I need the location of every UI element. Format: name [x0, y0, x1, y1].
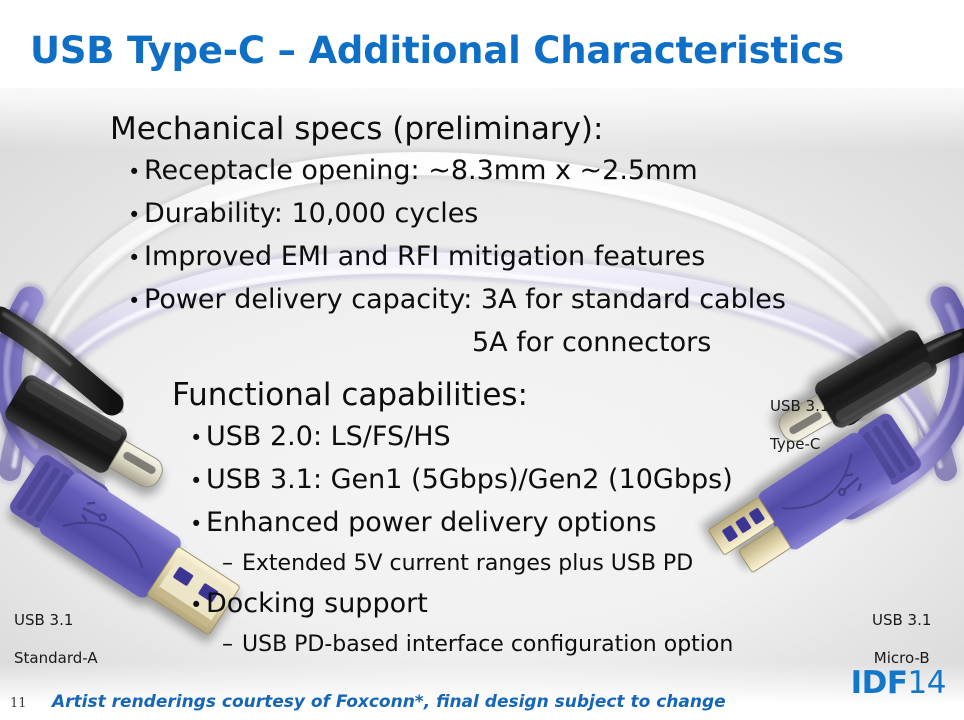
bullet-marker: • [128, 195, 144, 236]
callout-line-1: USB 3.1 [14, 611, 98, 630]
idf-logo-year: 14 [908, 665, 946, 701]
callout-type-c: USB 3.1 Type-C [770, 378, 829, 473]
sub-bullet-item: – USB PD-based interface configuration o… [222, 626, 733, 664]
bullet-marker: • [128, 281, 144, 322]
sub-bullet-text: Extended 5V current ranges plus USB PD [242, 545, 693, 583]
bullet-marker: • [190, 418, 206, 459]
bullet-item: • Durability: 10,000 cycles [128, 193, 786, 236]
bullet-continuation: 5A for connectors [128, 322, 786, 363]
bullet-marker: • [128, 152, 144, 193]
bullet-marker: • [190, 461, 206, 502]
sub-bullet-item: – Extended 5V current ranges plus USB PD [222, 545, 733, 583]
bullet-item: • Improved EMI and RFI mitigation featur… [128, 236, 786, 279]
bullet-text: Receptacle opening: ~8.3mm x ~2.5mm [144, 150, 698, 191]
bullet-text: Power delivery capacity: 3A for standard… [144, 279, 786, 320]
callout-line-2: Standard-A [14, 649, 98, 668]
callout-standard-a: USB 3.1 Standard-A [14, 592, 98, 687]
left-blue-cable [6, 300, 96, 496]
bullet-item: • Power delivery capacity: 3A for standa… [128, 279, 786, 322]
sub-bullet-text: USB PD-based interface configuration opt… [242, 626, 733, 664]
callout-line-2: Type-C [770, 435, 829, 454]
bullet-marker: • [128, 238, 144, 279]
right-blue-cable [850, 300, 964, 506]
slide-canvas: USB Type-C – Additional Characteristics … [0, 0, 964, 720]
connector-type-c-left [2, 372, 173, 501]
section-heading: Functional capabilities: [172, 374, 733, 416]
callout-line-1: USB 3.1 [872, 611, 931, 630]
right-black-cable [848, 334, 964, 414]
slide-number: 11 [10, 696, 27, 711]
footer-credit-text: Artist renderings courtesy of Foxconn*, … [52, 692, 726, 712]
bullet-text: Durability: 10,000 cycles [144, 193, 478, 234]
bullet-marker: • [190, 585, 206, 626]
idf-logo-mark: IDF [851, 665, 908, 701]
bullet-item: • Enhanced power delivery options [190, 502, 733, 545]
bullet-item: • Docking support [190, 583, 733, 626]
bullet-text: USB 2.0: LS/FS/HS [206, 416, 451, 457]
sub-bullet-marker: – [222, 545, 242, 583]
bullet-item: • Receptacle opening: ~8.3mm x ~2.5mm [128, 150, 786, 193]
bullet-marker: • [190, 504, 206, 545]
bullet-item: • USB 3.1: Gen1 (5Gbps)/Gen2 (10Gbps) [190, 459, 733, 502]
bullet-text: USB 3.1: Gen1 (5Gbps)/Gen2 (10Gbps) [206, 459, 733, 500]
idf-logo: IDF14 [851, 666, 946, 700]
sub-bullet-marker: – [222, 626, 242, 664]
bullet-text: Docking support [206, 583, 428, 624]
section-heading: Mechanical specs (preliminary): [110, 108, 786, 150]
section-mechanical-specs: Mechanical specs (preliminary): • Recept… [110, 108, 786, 363]
slide-title: USB Type-C – Additional Characteristics [30, 28, 934, 74]
bullet-text: Enhanced power delivery options [206, 502, 657, 543]
left-black-cable [0, 314, 112, 404]
bullet-item: • USB 2.0: LS/FS/HS [190, 416, 733, 459]
callout-line-1: USB 3.1 [770, 397, 829, 416]
bullet-text: Improved EMI and RFI mitigation features [144, 236, 705, 277]
section-functional-capabilities: Functional capabilities: • USB 2.0: LS/F… [172, 374, 733, 664]
